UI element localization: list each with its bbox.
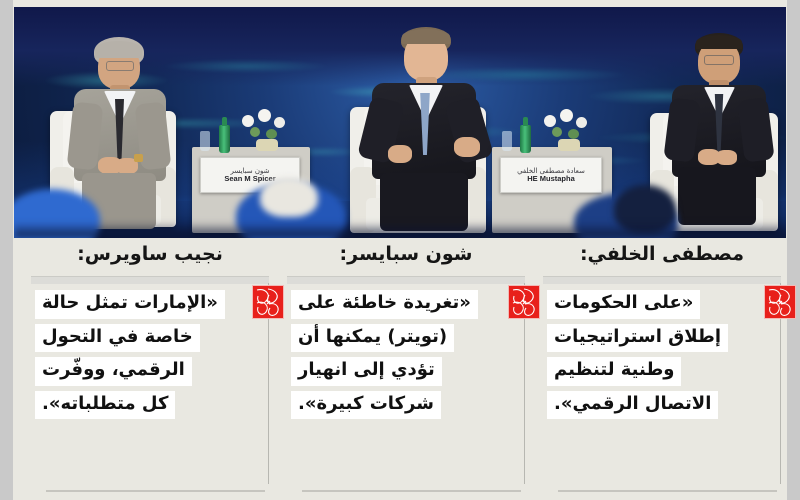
column-footer-rule	[558, 490, 777, 492]
person-sean-spicer	[354, 27, 494, 232]
quote-line: «على الحكومات	[547, 290, 700, 319]
quote-column-mustapha-elkhalfi: مصطفى الخلفي: «على الحكوما	[543, 238, 781, 500]
quote-body: «الإمارات تمثل حالة خاصة في التحول الرقم…	[31, 283, 269, 484]
speaker-name-sean-spicer: شون سبايسر:	[287, 244, 525, 265]
quote-lines: «على الحكومات إطلاق استراتيجيات وطنية لت…	[547, 290, 774, 419]
newspaper-page: شون سبايسر Sean M Spicer سعادة مصطفى الخ…	[13, 0, 787, 500]
quote-columns: نجيب ساويرس: «الإمارات تمث	[13, 238, 787, 500]
glass-left	[200, 131, 210, 151]
foreground-shadow	[14, 222, 786, 238]
nameplate-mustapha-elkhalfi: سعادة مصطفى الخلفي HE Mustapha	[500, 157, 602, 193]
flower-arrangement-left	[236, 107, 294, 153]
nameplate-english: HE Mustapha	[527, 175, 575, 183]
flower-arrangement-center	[538, 107, 596, 153]
quote-line: إطلاق استراتيجيات	[547, 324, 728, 353]
column-footer-rule	[302, 490, 521, 492]
quote-line: «تغريدة خاطئة على	[291, 290, 478, 319]
speaker-name-najib-sawiris: نجيب ساويرس:	[31, 244, 269, 265]
quote-lines: «تغريدة خاطئة على (تويتر) يمكنها أن تؤدي…	[291, 290, 518, 419]
quote-line: «الإمارات تمثل حالة	[35, 290, 225, 319]
quote-line: خاصة في التحول	[35, 324, 200, 353]
quote-line: الرقمي، ووفّرت	[35, 357, 192, 386]
quote-column-sean-spicer: شون سبايسر: «تغريدة خاطئة	[287, 238, 525, 500]
quote-column-najib-sawiris: نجيب ساويرس: «الإمارات تمث	[31, 238, 269, 500]
quote-line: (تويتر) يمكنها أن	[291, 324, 454, 353]
quote-body: «على الحكومات إطلاق استراتيجيات وطنية لت…	[543, 283, 781, 484]
bottle-neck-center	[523, 117, 528, 126]
speaker-name-mustapha-elkhalfi: مصطفى الخلفي:	[543, 244, 781, 265]
column-footer-rule	[46, 490, 265, 492]
quote-lines: «الإمارات تمثل حالة خاصة في التحول الرقم…	[35, 290, 262, 419]
nameplate-english: Sean M Spicer	[224, 175, 275, 183]
quote-line: الاتصال الرقمي».	[547, 391, 718, 420]
glass-center	[502, 131, 512, 151]
quote-line: كل متطلباته».	[35, 391, 175, 420]
quote-body: «تغريدة خاطئة على (تويتر) يمكنها أن تؤدي…	[287, 283, 525, 484]
panel-photograph: شون سبايسر Sean M Spicer سعادة مصطفى الخ…	[14, 7, 786, 238]
foreground-headdress	[260, 177, 318, 217]
quote-line: تؤدي إلى انهيار	[291, 357, 442, 386]
quote-line: وطنية لتنظيم	[547, 357, 681, 386]
quote-line: شركات كبيرة».	[291, 391, 441, 420]
water-bottle-left	[219, 125, 230, 153]
water-bottle-center	[520, 125, 531, 153]
bottle-neck-left	[222, 117, 227, 126]
